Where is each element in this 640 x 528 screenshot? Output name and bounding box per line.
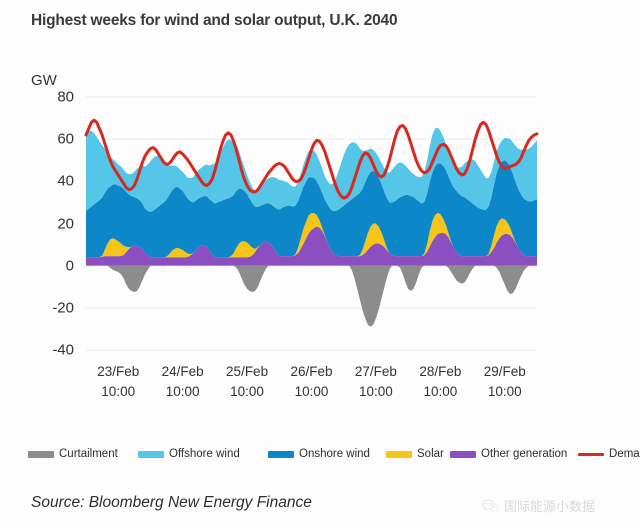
watermark: 国际能源小数据 [482, 496, 595, 515]
x-tick-date: 28/Feb [408, 362, 472, 382]
x-tick-date: 26/Feb [280, 362, 344, 382]
x-axis-tick-label: 23/Feb10:00 [86, 362, 150, 401]
legend-swatch-other-generation [450, 451, 476, 458]
legend-swatch-onshore-wind [268, 451, 294, 458]
x-tick-time: 10:00 [408, 382, 472, 402]
y-axis-tick-label: 40 [30, 173, 74, 190]
legend-swatch-curtailment [28, 451, 54, 458]
x-axis-tick-label: 29/Feb10:00 [473, 362, 537, 401]
legend-item[interactable]: Solar [386, 446, 444, 462]
x-tick-time: 10:00 [215, 382, 279, 402]
y-axis-tick-label: -40 [30, 342, 74, 359]
x-tick-time: 10:00 [344, 382, 408, 402]
legend-label: Other generation [481, 448, 567, 460]
legend-item[interactable]: Curtailment [28, 446, 118, 462]
x-tick-time: 10:00 [151, 382, 215, 402]
x-axis-tick-label: 24/Feb10:00 [151, 362, 215, 401]
legend-label: Curtailment [59, 448, 118, 460]
legend-item[interactable]: Offshore wind [138, 446, 240, 462]
y-axis-tick-label: 80 [30, 89, 74, 106]
stacked-area-chart-svg [0, 0, 640, 420]
legend-swatch-offshore-wind [138, 451, 164, 458]
x-tick-date: 29/Feb [473, 362, 537, 382]
x-tick-time: 10:00 [280, 382, 344, 402]
chart-legend: CurtailmentOffshore windOnshore windSola… [28, 446, 628, 464]
legend-item[interactable]: Demand [578, 446, 640, 462]
area-series-curtailment [86, 266, 537, 327]
x-axis-tick-label: 25/Feb10:00 [215, 362, 279, 401]
y-axis-tick-label: 60 [30, 131, 74, 148]
legend-item[interactable]: Other generation [450, 446, 567, 462]
y-axis-tick-label: -20 [30, 299, 74, 316]
watermark-text: 国际能源小数据 [504, 496, 595, 515]
x-axis-tick-label: 26/Feb10:00 [280, 362, 344, 401]
x-tick-date: 27/Feb [344, 362, 408, 382]
legend-label: Demand [609, 448, 640, 460]
legend-swatch-solar [386, 451, 412, 458]
legend-item[interactable]: Onshore wind [268, 446, 370, 462]
wechat-icon [482, 499, 499, 513]
source-note: Source: Bloomberg New Energy Finance [31, 494, 312, 512]
y-axis-tick-label: 20 [30, 215, 74, 232]
plot-area: 806040200-20-40 23/Feb10:0024/Feb10:0025… [0, 0, 640, 420]
legend-swatch-demand [578, 453, 604, 456]
legend-label: Offshore wind [169, 448, 240, 460]
chart-figure: Highest weeks for wind and solar output,… [0, 0, 640, 528]
x-axis-tick-label: 27/Feb10:00 [344, 362, 408, 401]
y-axis-tick-label: 0 [30, 257, 74, 274]
x-tick-date: 25/Feb [215, 362, 279, 382]
x-tick-date: 24/Feb [151, 362, 215, 382]
legend-label: Onshore wind [299, 448, 370, 460]
x-tick-date: 23/Feb [86, 362, 150, 382]
x-tick-time: 10:00 [86, 382, 150, 402]
x-axis-tick-label: 28/Feb10:00 [408, 362, 472, 401]
legend-label: Solar [417, 448, 444, 460]
x-tick-time: 10:00 [473, 382, 537, 402]
